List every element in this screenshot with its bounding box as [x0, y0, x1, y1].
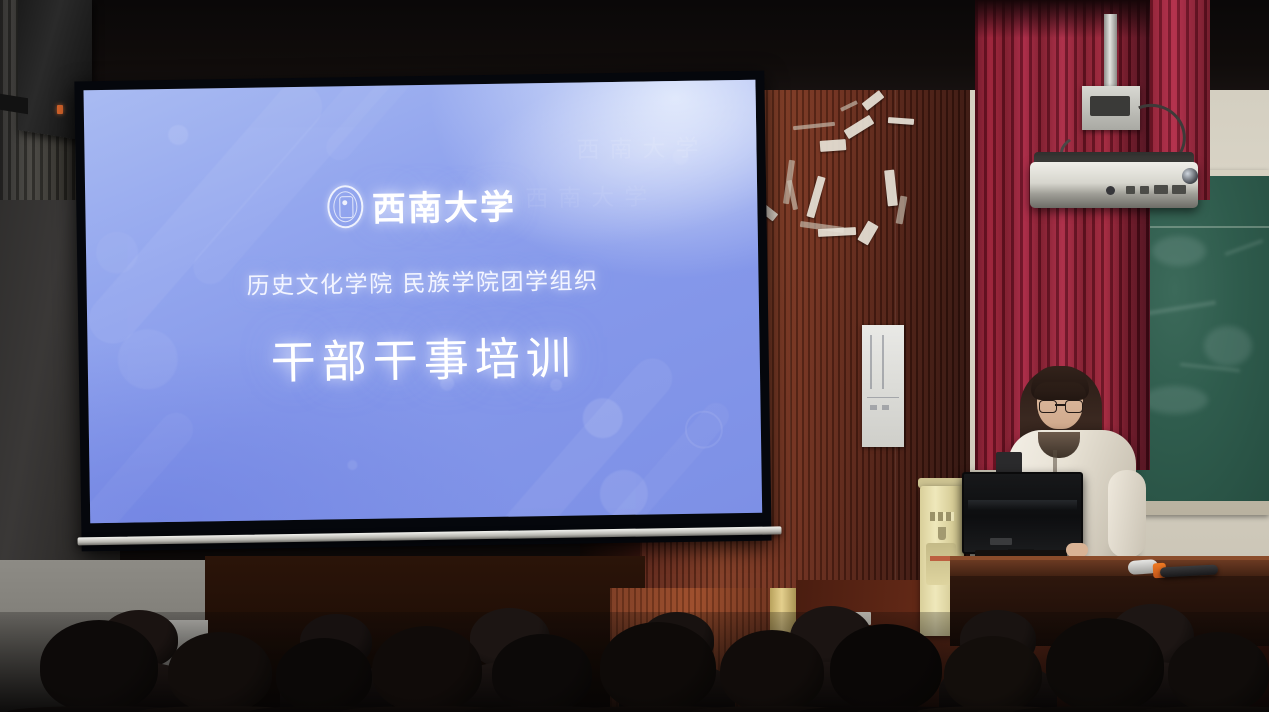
slide-title: 干部干事培训: [270, 322, 577, 392]
slide-surface: 西南大学 西南大学 西南大学 历史文化学院 民族学院团学组织 干部干事培训: [83, 80, 762, 524]
projection-screen: 西南大学 西南大学 西南大学 历史文化学院 民族学院团学组织 干部干事培训: [74, 71, 771, 552]
speaker-power-led: [57, 105, 63, 114]
projector-mount-plate: [1090, 96, 1130, 116]
projector-body: [1030, 162, 1198, 208]
audience-head: [600, 622, 716, 712]
presenter-arm: [1108, 470, 1146, 558]
dispenser-buttons: [930, 512, 954, 521]
audience-head: [720, 630, 824, 712]
chalkboard-seam: [1134, 226, 1269, 228]
university-name: 西南大学: [371, 180, 516, 231]
audience-head: [830, 624, 942, 712]
presenter-fringe: [1034, 382, 1086, 400]
presenter-hand: [1066, 543, 1088, 557]
presenter-glasses: [1039, 400, 1081, 411]
desktop-monitor: [962, 472, 1083, 554]
audience-head: [1046, 618, 1164, 712]
slide-logo-row: 西南大学: [326, 180, 516, 232]
dispenser-spout: [938, 527, 946, 540]
audience-head: [492, 634, 592, 712]
audience-head: [944, 636, 1042, 712]
dispenser-label: [930, 556, 950, 561]
university-seal-icon: [327, 185, 364, 229]
slide-content: 西南大学 历史文化学院 民族学院团学组织 干部干事培训: [83, 80, 762, 524]
green-chalkboard: [1134, 176, 1269, 501]
audience-head: [168, 632, 272, 712]
curtain-shadow: [975, 0, 1150, 38]
audience-head: [40, 620, 158, 712]
monitor-brand-badge: [990, 538, 1012, 545]
projector-pole: [1104, 14, 1117, 92]
wall-notice-paper: [862, 325, 904, 447]
audience-head: [276, 638, 372, 712]
audience-head: [372, 626, 482, 712]
lecture-hall-photo: 西南大学 西南大学 西南大学 历史文化学院 民族学院团学组织 干部干事培训: [0, 0, 1269, 712]
slide-organization-line: 历史文化学院 民族学院团学组织: [246, 261, 598, 301]
projector-lens: [1182, 168, 1198, 184]
audience-head: [1168, 632, 1269, 712]
